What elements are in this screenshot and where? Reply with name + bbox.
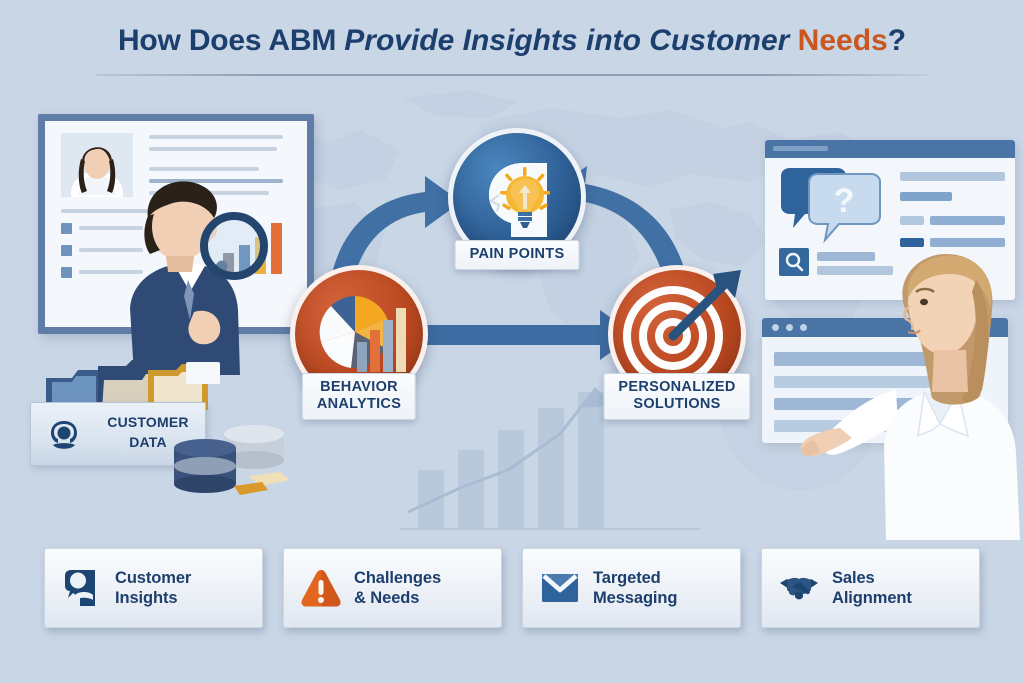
customer-data-line2: DATA <box>129 434 167 450</box>
user-circle-icon <box>47 418 81 452</box>
card-customer-insights-label: Customer Insights <box>115 568 191 608</box>
card-sales-alignment-label: Sales Alignment <box>832 568 912 608</box>
database-cylinders <box>168 424 293 496</box>
node-personalized-solutions-label-line2: SOLUTIONS <box>633 396 720 412</box>
card-label-line1: Targeted <box>593 569 661 587</box>
card-label-line2: Insights <box>115 589 177 607</box>
card-targeted-messaging[interactable]: Targeted Messaging <box>522 548 741 628</box>
infographic-canvas: How Does ABM Provide Insights into Custo… <box>0 0 1024 683</box>
card-label-line2: & Needs <box>354 589 419 607</box>
card-challenges-needs[interactable]: Challenges & Needs <box>283 548 502 628</box>
card-label-line1: Challenges <box>354 569 441 587</box>
title-segment-italic: Provide Insights into Customer <box>344 24 797 57</box>
summary-card-row: Customer Insights Challenges & Needs <box>44 548 980 630</box>
card-customer-insights[interactable]: Customer Insights <box>44 548 263 628</box>
pie-bar-chart-icon <box>311 288 407 380</box>
db-navy <box>174 439 236 493</box>
title-segment-accent: Needs <box>798 24 888 57</box>
card-targeted-messaging-label: Targeted Messaging <box>593 568 677 608</box>
node-personalized-solutions-label-line1: PERSONALIZED <box>618 379 735 395</box>
panel-line <box>900 172 1005 181</box>
node-behavior-analytics-label-line1: BEHAVIOR <box>320 379 398 395</box>
node-pain-points-label-line1: PAIN POINTS <box>470 246 565 262</box>
head-lightbulb-icon <box>469 149 565 245</box>
card-challenges-needs-label: Challenges & Needs <box>354 568 441 608</box>
envelope-icon <box>539 567 581 609</box>
title-segment-bold: How Does ABM <box>118 24 344 57</box>
businesswoman-presenter <box>800 240 1024 540</box>
panel-line <box>930 216 1005 225</box>
question-mark-glyph: ? <box>834 182 855 220</box>
head-speech-bubble-icon <box>61 567 103 609</box>
node-behavior-analytics-label: BEHAVIOR ANALYTICS <box>302 373 416 420</box>
node-pain-points[interactable]: PAIN POINTS <box>448 128 586 266</box>
warning-triangle-icon <box>300 567 342 609</box>
node-pain-points-label: PAIN POINTS <box>455 240 580 270</box>
card-sales-alignment[interactable]: Sales Alignment <box>761 548 980 628</box>
card-label-line1: Sales <box>832 569 875 587</box>
card-label-line1: Customer <box>115 569 191 587</box>
window-dot <box>786 324 793 331</box>
node-behavior-analytics-label-line2: ANALYTICS <box>317 396 401 412</box>
node-personalized-solutions[interactable]: PERSONALIZED SOLUTIONS <box>608 265 746 403</box>
card-label-line2: Messaging <box>593 589 677 607</box>
title-divider <box>95 74 929 76</box>
node-behavior-analytics[interactable]: BEHAVIOR ANALYTICS <box>290 265 428 403</box>
panel-line <box>900 216 924 225</box>
window-dot <box>772 324 779 331</box>
panel-titlebar-text <box>773 146 828 151</box>
title-segment-question: ? <box>888 24 906 57</box>
businessman-analyst <box>70 160 285 375</box>
question-speech-bubble-icon: ? <box>779 166 884 246</box>
page-title: How Does ABM Provide Insights into Custo… <box>0 22 1024 60</box>
node-personalized-solutions-label: PERSONALIZED SOLUTIONS <box>603 373 750 420</box>
handshake-icon <box>778 567 820 609</box>
panel-line <box>900 192 952 201</box>
card-label-line2: Alignment <box>832 589 912 607</box>
